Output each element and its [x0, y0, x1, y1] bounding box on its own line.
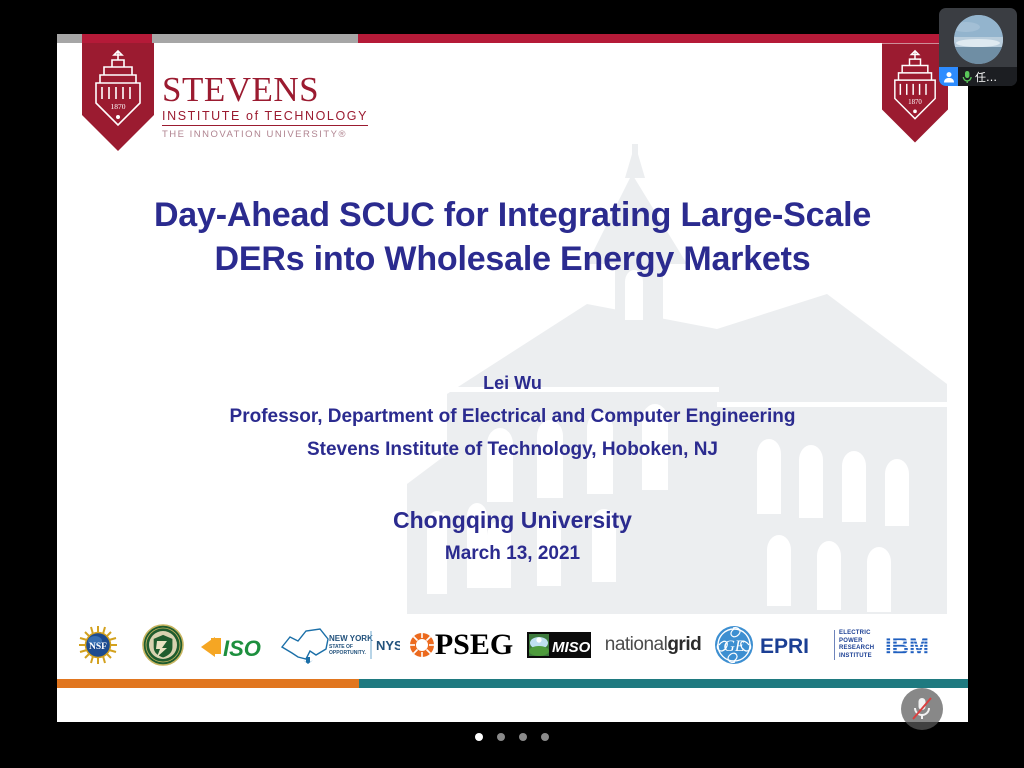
- presentation-slide[interactable]: 1870 1870 STEVENS INSTITUTE of TECHNOLOG…: [57, 34, 968, 722]
- mute-toggle-button[interactable]: [901, 688, 943, 730]
- pagination-dot-1[interactable]: [475, 733, 483, 741]
- ge-logo: GE: [708, 621, 760, 669]
- pagination-dot-3[interactable]: [519, 733, 527, 741]
- wordmark-tagline: THE INNOVATION UNIVERSITY®: [162, 129, 432, 140]
- screen: 1870 1870 STEVENS INSTITUTE of TECHNOLOG…: [0, 0, 1024, 768]
- iso-ne-logo: ISO: [197, 621, 277, 669]
- wordmark-main: STEVENS: [162, 72, 432, 107]
- presenter-affiliation: Stevens Institute of Technology, Hoboken…: [77, 433, 948, 466]
- accent-segment-gray-1: [57, 34, 82, 43]
- pagination-dots[interactable]: [0, 733, 1024, 741]
- nyserda-name-text: NYSERDA: [376, 638, 400, 653]
- nyserda-logo: NEW YORK STATE OF OPPORTUNITY. NYSERDA: [277, 621, 402, 669]
- accent-segment-red-2: [358, 34, 968, 43]
- accent-segment-orange: [57, 679, 359, 688]
- nyserda-ny-line-3: OPPORTUNITY.: [329, 650, 367, 656]
- svg-text:GE: GE: [723, 638, 745, 655]
- top-accent-bar: [57, 34, 968, 43]
- epri-subtitle: ELECTRIC POWER RESEARCH INSTITUTE: [834, 630, 882, 660]
- microphone-muted-icon: [910, 696, 934, 722]
- slide-title: Day-Ahead SCUC for Integrating Large-Sca…: [77, 194, 948, 281]
- stevens-wordmark: STEVENS INSTITUTE of TECHNOLOGY THE INNO…: [162, 72, 432, 140]
- epri-logo-text: EPRI: [760, 635, 809, 657]
- epri-subtitle-line-1: ELECTRIC POWER: [839, 630, 871, 644]
- accent-segment-red-1: [82, 34, 152, 43]
- event-date: March 13, 2021: [77, 539, 948, 569]
- epri-logo: EPRI ELECTRIC POWER RESEARCH INSTITUTE: [760, 621, 882, 669]
- presenter-name: Lei Wu: [77, 366, 948, 400]
- ibm-logo-mark: [885, 632, 941, 658]
- presenter-role: Professor, Department of Electrical and …: [77, 400, 948, 433]
- accent-segment-teal: [359, 679, 968, 688]
- pseg-logo: PSEG: [402, 621, 520, 669]
- miso-logo: MISO: [520, 621, 598, 669]
- nationalgrid-bold-text: grid: [667, 634, 701, 655]
- avatar: [954, 15, 1003, 64]
- pagination-dot-4[interactable]: [541, 733, 549, 741]
- accent-segment-gray-2: [152, 34, 358, 43]
- pseg-logo-text: PSEG: [435, 628, 513, 662]
- participant-name: 任…: [975, 69, 997, 85]
- stevens-shield-logo-left: 1870: [82, 43, 154, 151]
- nsf-logo-text: NSF: [89, 642, 107, 652]
- video-thumbnail-footer: 任…: [939, 67, 1017, 86]
- nationalgrid-logo: nationalgrid: [598, 621, 708, 669]
- event-venue: Chongqing University: [77, 502, 948, 539]
- doe-logo: [129, 621, 197, 669]
- bottom-accent-bar: [57, 679, 968, 688]
- nsf-logo: NSF: [67, 621, 129, 669]
- nationalgrid-light-text: national: [605, 634, 668, 655]
- miso-logo-text: MISO: [552, 639, 591, 656]
- sponsor-logo-strip: NSF ISO: [67, 616, 962, 674]
- ibm-logo: IBM: [882, 621, 944, 669]
- slide-title-line-1: Day-Ahead SCUC for Integrating Large-Sca…: [77, 194, 948, 238]
- event-block: Chongqing University March 13, 2021: [77, 502, 948, 569]
- microphone-icon[interactable]: [961, 70, 973, 84]
- presenter-block: Lei Wu Professor, Department of Electric…: [77, 366, 948, 467]
- epri-subtitle-line-2: RESEARCH INSTITUTE: [839, 645, 874, 659]
- participant-video-thumbnail[interactable]: 任…: [939, 8, 1017, 86]
- shield-year-right: 1870: [908, 99, 922, 106]
- shield-year-left: 1870: [111, 102, 126, 111]
- slide-title-line-2: DERs into Wholesale Energy Markets: [77, 238, 948, 282]
- wordmark-sub: INSTITUTE of TECHNOLOGY: [162, 109, 368, 126]
- pagination-dot-2[interactable]: [497, 733, 505, 741]
- person-icon: [939, 67, 958, 86]
- nyserda-ny-line-1: NEW YORK: [329, 634, 373, 643]
- iso-logo-text: ISO: [223, 636, 261, 661]
